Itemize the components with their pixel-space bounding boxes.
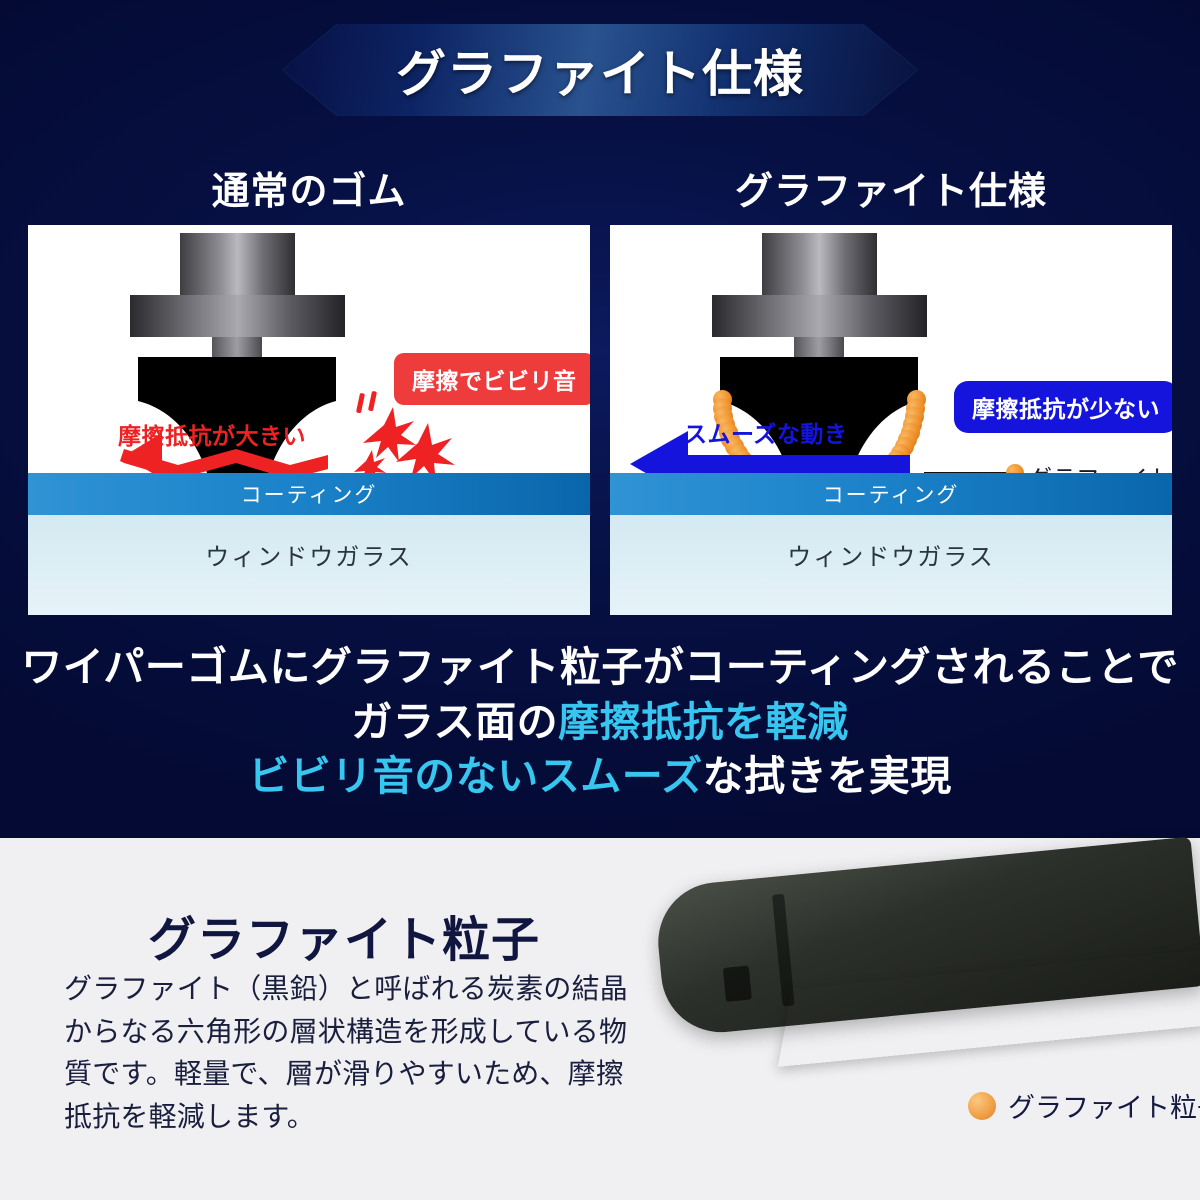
left-diagram-panel: 摩擦抵抗が大きい 摩擦でビビリ音 コーティング ウィンドウガラス — [28, 225, 590, 615]
coating-label-right: コーティング — [610, 473, 1172, 515]
bottom-section-title: グラファイト粒子 — [148, 900, 540, 970]
left-panel-heading: 通常のゴム — [28, 160, 590, 215]
summary-line-2-highlight: 摩擦抵抗を軽減 — [558, 699, 849, 745]
right-panel-heading: グラファイト仕様 — [610, 160, 1172, 215]
smooth-motion-label: スムーズな動き — [684, 415, 847, 449]
window-glass-layer-left: ウィンドウガラス — [28, 515, 590, 615]
photo-legend: グラファイト粒子 — [968, 1086, 1200, 1125]
summary-line-3-plain: な拭きを実現 — [703, 753, 952, 799]
top-section: グラファイト仕様 通常のゴム グラファイト仕様 — [0, 0, 1200, 838]
coating-layer-left: コーティング — [28, 473, 590, 515]
infographic-page: グラファイト仕様 通常のゴム グラファイト仕様 — [0, 0, 1200, 1200]
summary-line-2: ガラス面の摩擦抵抗を軽減 — [0, 695, 1200, 750]
product-photo: グラファイト粒子 — [620, 848, 1200, 1148]
low-friction-pill: 摩擦抵抗が少ない — [954, 381, 1172, 433]
summary-line-3-highlight-1: ビビリ音のない — [248, 753, 539, 799]
title-banner: グラファイト仕様 — [282, 24, 918, 116]
window-glass-label-left: ウィンドウガラス — [28, 537, 590, 572]
graphite-particle-icon — [968, 1092, 996, 1120]
window-glass-layer-right: ウィンドウガラス — [610, 515, 1172, 615]
friction-arrow-label: 摩擦抵抗が大きい — [118, 417, 306, 451]
chatter-noise-pill: 摩擦でビビリ音 — [394, 353, 590, 405]
summary-line-1: ワイパーゴムにグラファイト粒子がコーティングされることで — [0, 640, 1200, 695]
bottom-section-body: グラファイト（黒鉛）と呼ばれる炭素の結晶からなる六角形の層状構造を形成している物… — [64, 968, 634, 1138]
summary-line-2-plain: ガラス面の — [351, 699, 558, 745]
window-glass-label-right: ウィンドウガラス — [610, 537, 1172, 572]
summary-line-3: ビビリ音のないスムーズな拭きを実現 — [0, 749, 1200, 804]
blade-slot — [723, 966, 752, 1002]
summary-copy: ワイパーゴムにグラファイト粒子がコーティングされることで ガラス面の摩擦抵抗を軽… — [0, 640, 1200, 804]
banner-title: グラファイト仕様 — [282, 24, 918, 116]
summary-line-3-highlight-2: スムーズ — [539, 753, 703, 799]
right-diagram-panel: スムーズな動き 摩擦抵抗が少ない グラファイト粒子 コーティング ウィンドウガラ… — [610, 225, 1172, 615]
coating-label-left: コーティング — [28, 473, 590, 515]
coating-layer-right: コーティング — [610, 473, 1172, 515]
bottom-section: グラファイト粒子 グラファイト（黒鉛）と呼ばれる炭素の結晶からなる六角形の層状構… — [0, 838, 1200, 1200]
photo-legend-label: グラファイト粒子 — [1008, 1086, 1200, 1125]
